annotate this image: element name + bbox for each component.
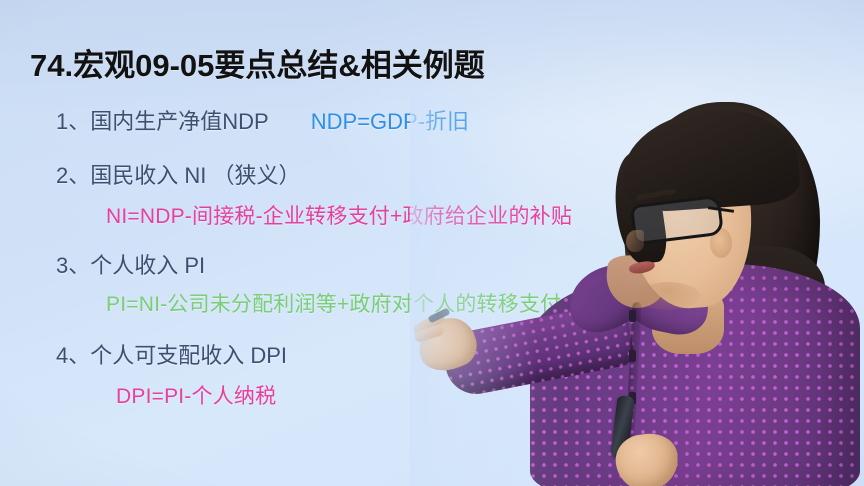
list-item-label: 个人收入 PI [90,248,205,280]
list-item-label: 国民收入 NI （狭义） [90,158,300,190]
video-frame: 74.宏观09-05要点总结&相关例题 1、 国内生产净值NDP NDP=GDP… [0,0,864,486]
list-item-label: 国内生产净值NDP [90,104,268,136]
list-item-number: 3、 [56,248,90,280]
formula-blue: NDP=GDP-折旧 [311,104,469,136]
list-item: 1、 国内生产净值NDP NDP=GDP-折旧 [56,104,469,136]
list-item-label: 个人可支配收入 DPI [90,338,287,370]
list-item-number: 1、 [56,104,90,136]
list-item: 3、 个人收入 PI [56,248,205,280]
slide-content: 1、 国内生产净值NDP NDP=GDP-折旧 2、 国民收入 NI （狭义） … [0,96,864,426]
formula-pink: NI=NDP-间接税-企业转移支付+政府给企业的补贴 [106,200,572,230]
list-item-number: 4、 [56,338,90,370]
formula-pink: DPI=PI-个人纳税 [116,380,276,410]
list-item-number: 2、 [56,158,90,190]
list-item: 2、 国民收入 NI （狭义） [56,158,300,190]
list-item: 4、 个人可支配收入 DPI [56,338,287,370]
slide-title: 74.宏观09-05要点总结&相关例题 [30,40,485,85]
formula-green: PI=NI-公司未分配利润等+政府对个人的转移支付 [106,288,561,318]
